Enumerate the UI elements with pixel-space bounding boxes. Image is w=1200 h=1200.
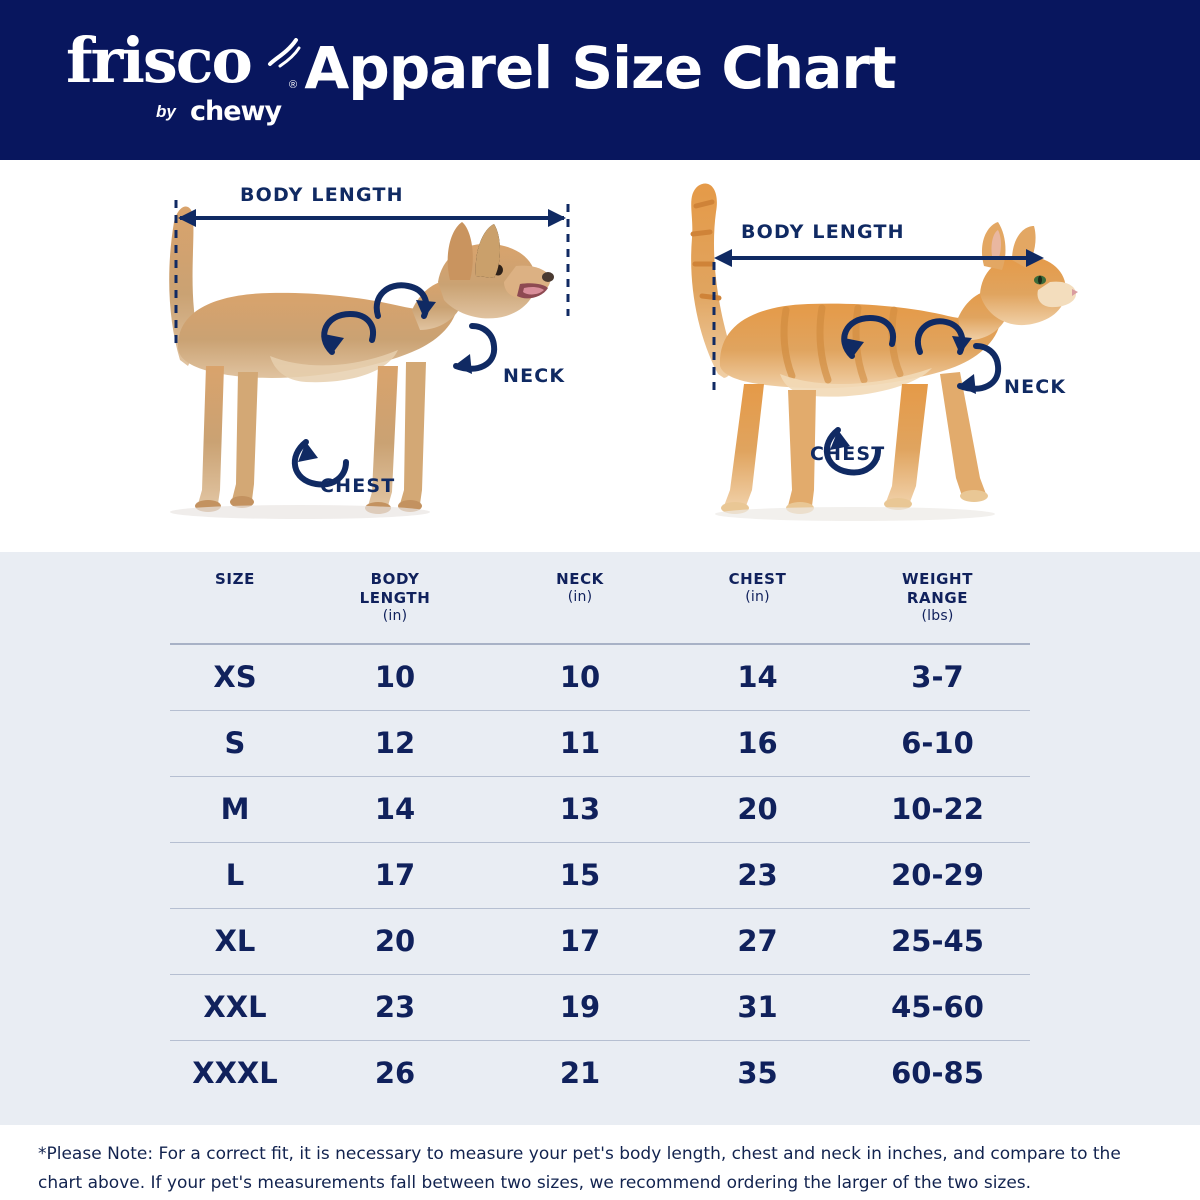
cell-chest: 31 <box>670 974 845 1040</box>
table-row: XS1010143-7 <box>170 644 1030 710</box>
cell-weight-range: 25-45 <box>845 908 1030 974</box>
header-chest-unit: (in) <box>670 589 845 607</box>
cell-size: L <box>170 842 300 908</box>
cell-weight-range: 3-7 <box>845 644 1030 710</box>
table-row: XXL23193145-60 <box>170 974 1030 1040</box>
header-chest-label: CHEST <box>729 570 787 588</box>
illustration-band: BODY LENGTH NECK CHEST <box>0 160 1200 552</box>
page-header: frisco ® by chewy Apparel Size Chart <box>0 0 1200 160</box>
cat-measurement-arrows <box>640 160 1110 552</box>
cell-body-length: 17 <box>300 842 490 908</box>
cell-size: S <box>170 710 300 776</box>
cell-chest: 27 <box>670 908 845 974</box>
cell-size: M <box>170 776 300 842</box>
cell-chest: 16 <box>670 710 845 776</box>
cell-chest: 35 <box>670 1040 845 1106</box>
cell-body-length: 12 <box>300 710 490 776</box>
header-size-label: SIZE <box>215 570 255 588</box>
table-row: L17152320-29 <box>170 842 1030 908</box>
table-head: SIZE BODY LENGTH (in) NECK (in) CHEST (i… <box>170 562 1030 644</box>
table-body: XS1010143-7S1211166-10M14132010-22L17152… <box>170 644 1030 1106</box>
cell-chest: 23 <box>670 842 845 908</box>
cell-size: XXXL <box>170 1040 300 1106</box>
cell-weight-range: 10-22 <box>845 776 1030 842</box>
size-chart-footnote: *Please Note: For a correct fit, it is n… <box>38 1140 1168 1198</box>
cell-body-length: 20 <box>300 908 490 974</box>
table-header-row: SIZE BODY LENGTH (in) NECK (in) CHEST (i… <box>170 562 1030 644</box>
header-body-line1: BODY <box>371 570 420 588</box>
cell-body-length: 26 <box>300 1040 490 1106</box>
size-chart-page: frisco ® by chewy Apparel Size Chart <box>0 0 1200 1200</box>
cell-weight-range: 45-60 <box>845 974 1030 1040</box>
cell-chest: 20 <box>670 776 845 842</box>
cell-body-length: 10 <box>300 644 490 710</box>
cell-weight-range: 60-85 <box>845 1040 1030 1106</box>
cell-body-length: 23 <box>300 974 490 1040</box>
cell-neck: 17 <box>490 908 670 974</box>
dog-neck-label: NECK <box>503 365 565 387</box>
cat-body-length-label: BODY LENGTH <box>741 221 905 243</box>
size-table-section: SIZE BODY LENGTH (in) NECK (in) CHEST (i… <box>0 552 1200 1125</box>
cell-chest: 14 <box>670 644 845 710</box>
page-title: Apparel Size Chart <box>0 34 1200 102</box>
column-header-chest: CHEST (in) <box>670 562 845 644</box>
cell-weight-range: 6-10 <box>845 710 1030 776</box>
cell-neck: 11 <box>490 710 670 776</box>
table-row: S1211166-10 <box>170 710 1030 776</box>
table-row: M14132010-22 <box>170 776 1030 842</box>
cell-neck: 10 <box>490 644 670 710</box>
cell-neck: 21 <box>490 1040 670 1106</box>
column-header-size: SIZE <box>170 562 300 644</box>
apparel-size-table: SIZE BODY LENGTH (in) NECK (in) CHEST (i… <box>170 562 1030 1106</box>
cell-body-length: 14 <box>300 776 490 842</box>
header-weight-line1: WEIGHT <box>902 570 973 588</box>
cat-chest-label: CHEST <box>810 443 885 465</box>
cell-neck: 15 <box>490 842 670 908</box>
cat-illustration-panel: BODY LENGTH NECK CHEST <box>640 160 1110 552</box>
cat-neck-label: NECK <box>1004 376 1066 398</box>
header-body-unit: (in) <box>300 608 490 626</box>
dog-body-length-label: BODY LENGTH <box>240 184 404 206</box>
header-neck-unit: (in) <box>490 589 670 607</box>
cat-figure <box>640 160 1110 552</box>
column-header-body-length: BODY LENGTH (in) <box>300 562 490 644</box>
dog-chest-label: CHEST <box>320 475 395 497</box>
column-header-neck: NECK (in) <box>490 562 670 644</box>
table-row: XXXL26213560-85 <box>170 1040 1030 1106</box>
cell-size: XXL <box>170 974 300 1040</box>
cell-weight-range: 20-29 <box>845 842 1030 908</box>
cell-size: XL <box>170 908 300 974</box>
dog-illustration-panel: BODY LENGTH NECK CHEST <box>120 160 600 552</box>
brand-by-label: by <box>156 102 176 122</box>
header-weight-line2: RANGE <box>907 589 968 607</box>
header-weight-unit: (lbs) <box>845 608 1030 626</box>
column-header-weight-range: WEIGHT RANGE (lbs) <box>845 562 1030 644</box>
cell-size: XS <box>170 644 300 710</box>
table-row: XL20172725-45 <box>170 908 1030 974</box>
cell-neck: 13 <box>490 776 670 842</box>
header-neck-label: NECK <box>556 570 604 588</box>
header-body-line2: LENGTH <box>360 589 431 607</box>
cell-neck: 19 <box>490 974 670 1040</box>
